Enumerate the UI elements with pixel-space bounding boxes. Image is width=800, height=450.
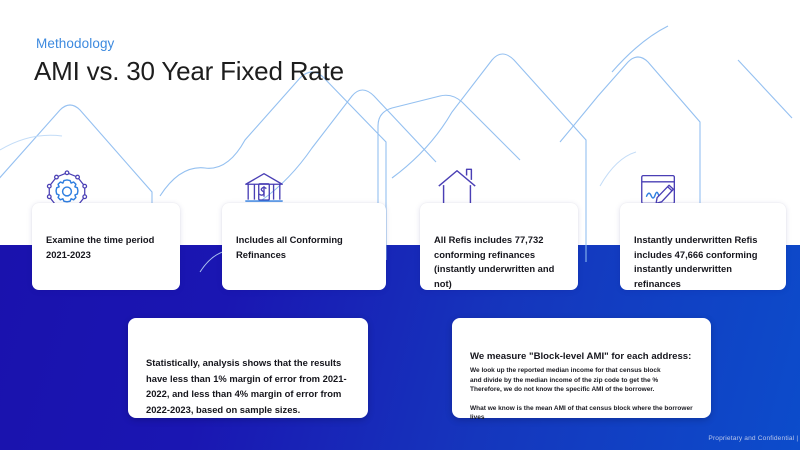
step-card-4[interactable]: Instantly underwritten Refis includes 47…	[620, 203, 786, 290]
page-title: AMI vs. 30 Year Fixed Rate	[34, 56, 344, 87]
note-card-margin-of-error[interactable]: Statistically, analysis shows that the r…	[128, 318, 368, 418]
note-line-3: Therefore, we do not know the specific A…	[470, 385, 699, 395]
note-line-2: and divide by the median income of the z…	[470, 376, 699, 386]
step-card-2[interactable]: Includes all Conforming Refinances	[222, 203, 386, 290]
step-card-1[interactable]: Examine the time period 2021-2023	[32, 203, 180, 290]
note-line-1: We look up the reported median income fo…	[470, 366, 699, 376]
note-line-4: What we know is the mean AMI of that cen…	[470, 404, 699, 423]
note-card-block-level-ami[interactable]: We measure "Block-level AMI" for each ad…	[452, 318, 711, 418]
step-card-3-text: All Refis includes 77,732 conforming ref…	[434, 233, 568, 291]
note-card-block-level-ami-body: We look up the reported median income fo…	[470, 366, 699, 423]
step-card-3[interactable]: All Refis includes 77,732 conforming ref…	[420, 203, 578, 290]
note-card-block-level-ami-heading: We measure "Block-level AMI" for each ad…	[470, 350, 697, 364]
eyebrow-label: Methodology	[36, 36, 114, 51]
note-card-margin-of-error-text: Statistically, analysis shows that the r…	[146, 355, 352, 417]
footer-confidentiality-label: Proprietary and Confidential | 6	[708, 435, 800, 442]
step-card-2-text: Includes all Conforming Refinances	[236, 233, 376, 262]
step-card-1-text: Examine the time period 2021-2023	[46, 233, 170, 262]
slide-canvas: Methodology AMI vs. 30 Year Fixed Rate E…	[0, 0, 800, 450]
step-card-4-text: Instantly underwritten Refis includes 47…	[634, 233, 776, 291]
